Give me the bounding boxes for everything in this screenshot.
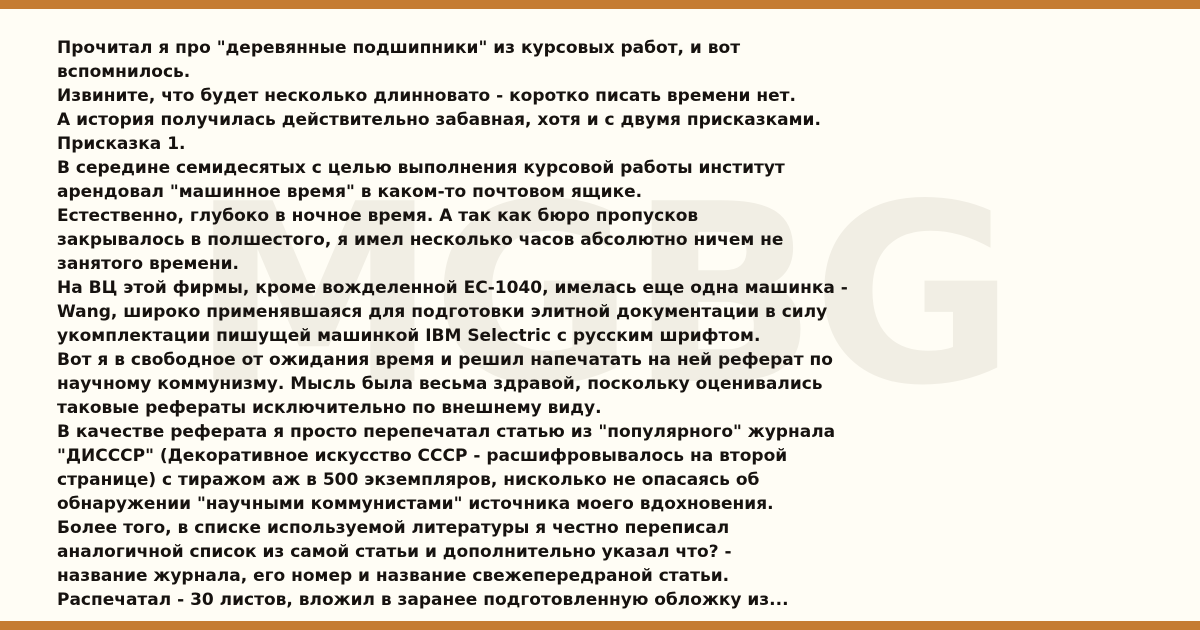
article-line: Wang, широко применявшаяся для подготовк…: [57, 300, 1147, 324]
article-line: занятого времени.: [57, 252, 1147, 276]
article-line: странице) с тиражом аж в 500 экземпляров…: [57, 468, 1147, 492]
article-line: Вот я в свободное от ожидания время и ре…: [57, 348, 1147, 372]
article-line: Естественно, глубоко в ночное время. А т…: [57, 204, 1147, 228]
article-line: название журнала, его номер и название с…: [57, 564, 1147, 588]
top-accent-rule: [0, 0, 1200, 9]
article-line: укомплектации пишущей машинкой IBM Selec…: [57, 324, 1147, 348]
article-line: арендовал "машинное время" в каком-то по…: [57, 180, 1147, 204]
article-line: Присказка 1.: [57, 132, 1147, 156]
article-line: В качестве реферата я просто перепечатал…: [57, 420, 1147, 444]
article-line: А история получилась действительно забав…: [57, 108, 1147, 132]
article-line: На ВЦ этой фирмы, кроме вожделенной ЕС-1…: [57, 276, 1147, 300]
article-line: закрывалось в полшестого, я имел несколь…: [57, 228, 1147, 252]
article-line: вспомнилось.: [57, 60, 1147, 84]
article-line: В середине семидесятых с целью выполнени…: [57, 156, 1147, 180]
article-line: "ДИСССР" (Декоративное искусство СССР - …: [57, 444, 1147, 468]
article-body: Прочитал я про "деревянные подшипники" и…: [57, 36, 1147, 612]
article-line: таковые рефераты исключительно по внешне…: [57, 396, 1147, 420]
article-line: аналогичной список из самой статьи и доп…: [57, 540, 1147, 564]
bottom-accent-rule: [0, 621, 1200, 630]
article-line: Распечатал - 30 листов, вложил в заранее…: [57, 588, 1147, 612]
article-line: Прочитал я про "деревянные подшипники" и…: [57, 36, 1147, 60]
article-line: Извините, что будет несколько длинновато…: [57, 84, 1147, 108]
article-line: Более того, в списке используемой литера…: [57, 516, 1147, 540]
article-line: обнаружении "научными коммунистами" исто…: [57, 492, 1147, 516]
article-line: научному коммунизму. Мысль была весьма з…: [57, 372, 1147, 396]
article-card: MGBG Прочитал я про "деревянные подшипни…: [0, 0, 1200, 630]
